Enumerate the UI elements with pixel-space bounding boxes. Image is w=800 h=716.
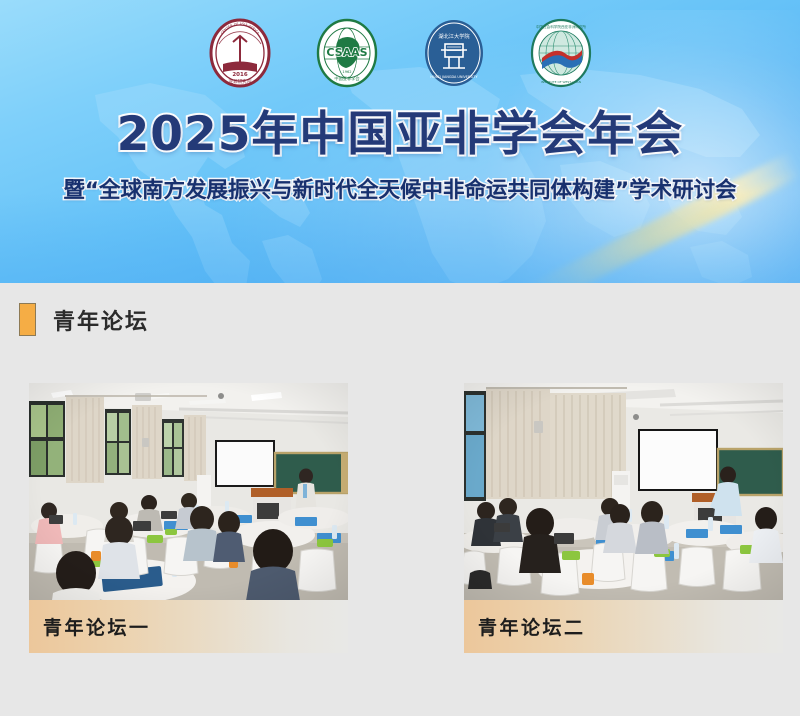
- forum-caption-text: 青年论坛二: [478, 613, 586, 640]
- hubei-jiangda-university-logo: 湖北江大学院 HUBEI JIANGDA UNIVERSITY: [423, 18, 485, 88]
- forum-card[interactable]: 青年论坛二: [464, 383, 783, 653]
- svg-text:1962: 1962: [342, 70, 351, 74]
- event-main-title: 2025年中国亚非学会年会: [0, 110, 800, 159]
- forum-caption-text: 青年论坛一: [43, 613, 151, 640]
- organizer-logo-row: 2016 亚非研究院 CENTER OF ASIA-AFRICA CSAAS 1…: [0, 18, 800, 88]
- forum-caption: 青年论坛二: [464, 600, 783, 653]
- global-institute-logo: 中国社会科学院西亚非洲研究所 INSTITUTE OF WEST-ASIAN: [530, 18, 592, 88]
- svg-text:亚非研究院: 亚非研究院: [228, 78, 251, 85]
- banner-title-block: 2025年中国亚非学会年会 暨“全球南方发展振兴与新时代全天候中非命运共同体构建…: [0, 110, 800, 204]
- forum-photo-gallery: 青年论坛一: [29, 383, 783, 653]
- event-banner: 2016 亚非研究院 CENTER OF ASIA-AFRICA CSAAS 1…: [0, 0, 800, 283]
- csaas-logo: CSAAS 1962 中国亚非学会: [316, 18, 378, 88]
- forum-card[interactable]: 青年论坛一: [29, 383, 348, 653]
- section-marker-icon: [19, 303, 36, 336]
- forum-photo-one: [29, 383, 348, 600]
- page-content: 青年论坛: [0, 283, 800, 716]
- event-sub-title: 暨“全球南方发展振兴与新时代全天候中非命运共同体构建”学术研讨会: [0, 173, 800, 204]
- section-title: 青年论坛: [53, 304, 149, 336]
- svg-text:HUBEI JIANGDA UNIVERSITY: HUBEI JIANGDA UNIVERSITY: [430, 75, 478, 79]
- svg-text:中国亚非学会: 中国亚非学会: [334, 75, 360, 82]
- banner-haze: [0, 193, 800, 283]
- section-header: 青年论坛: [19, 303, 149, 336]
- forum-caption: 青年论坛一: [29, 600, 348, 653]
- svg-text:中国社会科学院西亚非洲研究所: 中国社会科学院西亚非洲研究所: [535, 24, 586, 29]
- svg-text:CSAAS: CSAAS: [326, 46, 367, 59]
- svg-text:湖北江大学院: 湖北江大学院: [438, 32, 470, 40]
- svg-text:2016: 2016: [232, 72, 247, 78]
- svg-text:INSTITUTE OF WEST-ASIAN: INSTITUTE OF WEST-ASIAN: [541, 80, 581, 84]
- jiangda-asia-africa-institute-logo: 2016 亚非研究院 CENTER OF ASIA-AFRICA: [209, 18, 271, 88]
- forum-photo-two: [464, 383, 783, 600]
